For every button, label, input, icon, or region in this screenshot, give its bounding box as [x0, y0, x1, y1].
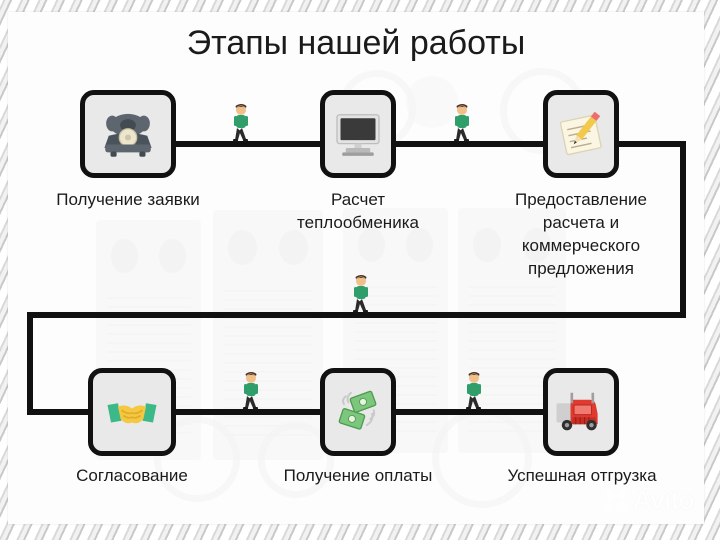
telephone-icon	[100, 106, 156, 162]
walker-between-1-2	[230, 104, 252, 144]
handshake-icon	[104, 384, 160, 440]
truck-icon	[553, 384, 609, 440]
step-caption-5: Получение оплаты	[256, 464, 460, 487]
step-caption-4: Согласование	[30, 464, 234, 487]
walker-between-2-3	[451, 104, 473, 144]
image-frame: Этапы нашей работы	[0, 0, 720, 540]
step-caption-3: Предоставление расчета и коммерческого п…	[478, 188, 684, 280]
avito-logo-icon	[603, 488, 629, 514]
walker-on-wrap	[350, 275, 372, 315]
computer-icon	[330, 106, 386, 162]
step-node-1[interactable]	[80, 90, 176, 178]
step-node-5[interactable]	[320, 368, 396, 456]
avito-watermark: Avito	[603, 485, 695, 516]
slide-canvas: Этапы нашей работы	[8, 12, 704, 524]
step-node-3[interactable]	[543, 90, 619, 178]
avito-wordmark: Avito	[633, 485, 695, 516]
walker-between-4-5	[240, 372, 262, 412]
step-node-6[interactable]	[543, 368, 619, 456]
step-caption-1: Получение заявки	[8, 188, 256, 211]
money-icon	[330, 384, 386, 440]
step-node-4[interactable]	[88, 368, 176, 456]
walker-between-5-6	[463, 372, 485, 412]
notepad-pencil-icon	[553, 106, 609, 162]
step-node-2[interactable]	[320, 90, 396, 178]
step-caption-6: Успешная отгрузка	[480, 464, 684, 487]
step-caption-2: Расчет теплообменика	[266, 188, 450, 234]
